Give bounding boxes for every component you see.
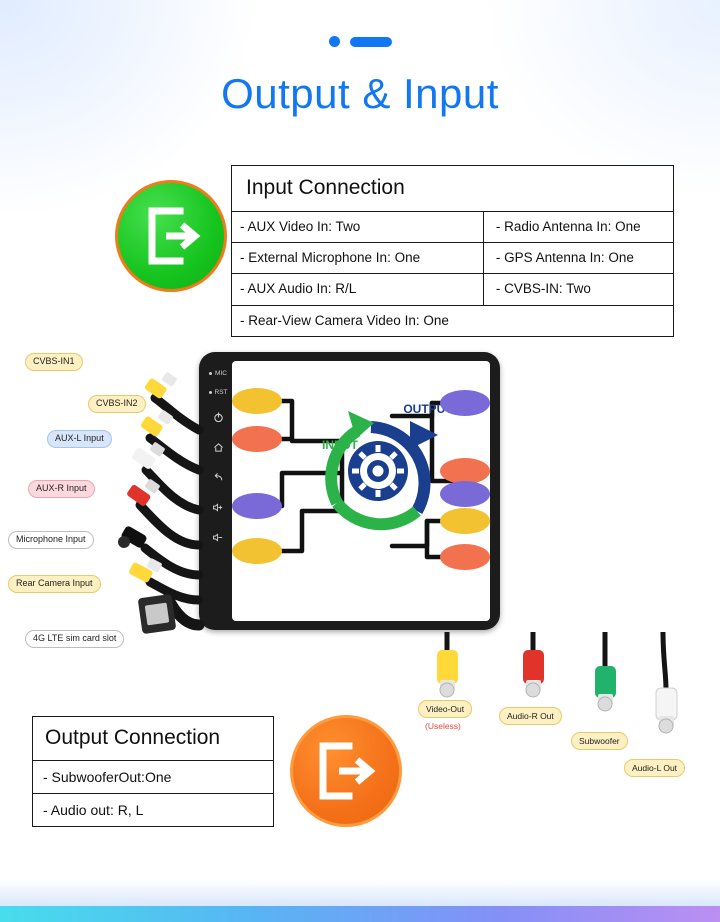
label-aux-r-input: AUX-R Input	[28, 480, 95, 498]
table-row: - AUX Video In: Two - Radio Antenna In: …	[232, 212, 673, 243]
page-title: Output & Input	[0, 70, 720, 118]
label-sim-card-slot: 4G LTE sim card slot	[25, 630, 124, 648]
schematic-node	[232, 493, 282, 519]
header-ornament	[0, 36, 720, 47]
footer-gradient-bar	[0, 906, 720, 922]
key-rst-label: RST	[215, 389, 228, 396]
input-cell-right: - GPS Antenna In: One	[484, 243, 673, 273]
footer-glow	[0, 880, 720, 906]
schematic-node	[440, 481, 490, 507]
label-audio-l-out: Audio-L Out	[624, 759, 685, 777]
schematic-node	[440, 458, 490, 484]
audio-l-out-plug	[656, 688, 677, 720]
rst-dot-icon	[209, 391, 212, 394]
input-cell-right: - CVBS-IN: Two	[484, 274, 673, 304]
table-row: - SubwooferOut:One	[33, 761, 273, 794]
subwoofer-plug	[595, 666, 616, 698]
key-mic: MIC	[209, 364, 227, 383]
output-table-header: Output Connection	[33, 717, 273, 761]
schematic-node	[440, 390, 490, 416]
volume-down-icon[interactable]	[212, 522, 225, 552]
login-arrow-icon	[140, 207, 202, 265]
label-video-out-note: (Useless)	[425, 721, 461, 731]
label-audio-r-out: Audio-R Out	[499, 707, 562, 725]
poster-root: Output & Input Input Connection - AUX Vi…	[0, 0, 720, 922]
back-icon[interactable]	[213, 462, 224, 492]
input-table-header: Input Connection	[232, 166, 673, 212]
schematic-node	[440, 544, 490, 570]
schematic-node	[440, 508, 490, 534]
ornament-dot-icon	[329, 36, 340, 47]
output-icon-badge	[290, 715, 402, 827]
signal-flow-schematic: INPUT OUTPUT	[232, 361, 490, 621]
table-row: - External Microphone In: One - GPS Ante…	[232, 243, 673, 274]
audio-r-out-plug	[523, 650, 544, 684]
home-icon[interactable]	[213, 432, 224, 462]
volume-up-icon[interactable]	[212, 492, 225, 522]
input-cell-right: - Radio Antenna In: One	[484, 212, 673, 242]
mic-dot-icon	[209, 372, 212, 375]
input-connection-table: Input Connection - AUX Video In: Two - R…	[231, 165, 674, 337]
head-unit-keys: MIC RST	[204, 364, 232, 619]
key-rst: RST	[209, 383, 228, 402]
input-cell-full: - Rear-View Camera Video In: One	[232, 306, 673, 336]
label-cvbs-in2: CVBS-IN2	[88, 395, 146, 413]
input-cell-left: - AUX Audio In: R/L	[232, 274, 484, 304]
table-row: - Audio out: R, L	[33, 794, 273, 826]
input-cell-left: - AUX Video In: Two	[232, 212, 484, 242]
schematic-node	[232, 388, 282, 414]
logout-arrow-icon	[315, 742, 377, 800]
head-unit-screen: INPUT OUTPUT	[232, 361, 490, 621]
head-unit: MIC RST	[199, 352, 500, 630]
label-video-out: Video-Out	[418, 700, 472, 718]
label-rear-camera-input: Rear Camera Input	[8, 575, 101, 593]
output-connection-table: Output Connection - SubwooferOut:One - A…	[32, 716, 274, 827]
input-icon-badge	[115, 180, 227, 292]
label-microphone-input: Microphone Input	[8, 531, 94, 549]
schematic-node	[232, 538, 282, 564]
label-cvbs-in1: CVBS-IN1	[25, 353, 83, 371]
schematic-input-label: INPUT	[322, 438, 359, 452]
schematic-node	[232, 426, 282, 452]
label-aux-l-input: AUX-L Input	[47, 430, 112, 448]
key-mic-label: MIC	[215, 370, 227, 377]
video-out-plug	[437, 650, 458, 684]
power-icon[interactable]	[213, 402, 224, 432]
ornament-bar-icon	[350, 37, 392, 47]
table-row: - Rear-View Camera Video In: One	[232, 306, 673, 336]
label-subwoofer: Subwoofer	[571, 732, 628, 750]
table-row: - AUX Audio In: R/L - CVBS-IN: Two	[232, 274, 673, 305]
input-cell-left: - External Microphone In: One	[232, 243, 484, 273]
